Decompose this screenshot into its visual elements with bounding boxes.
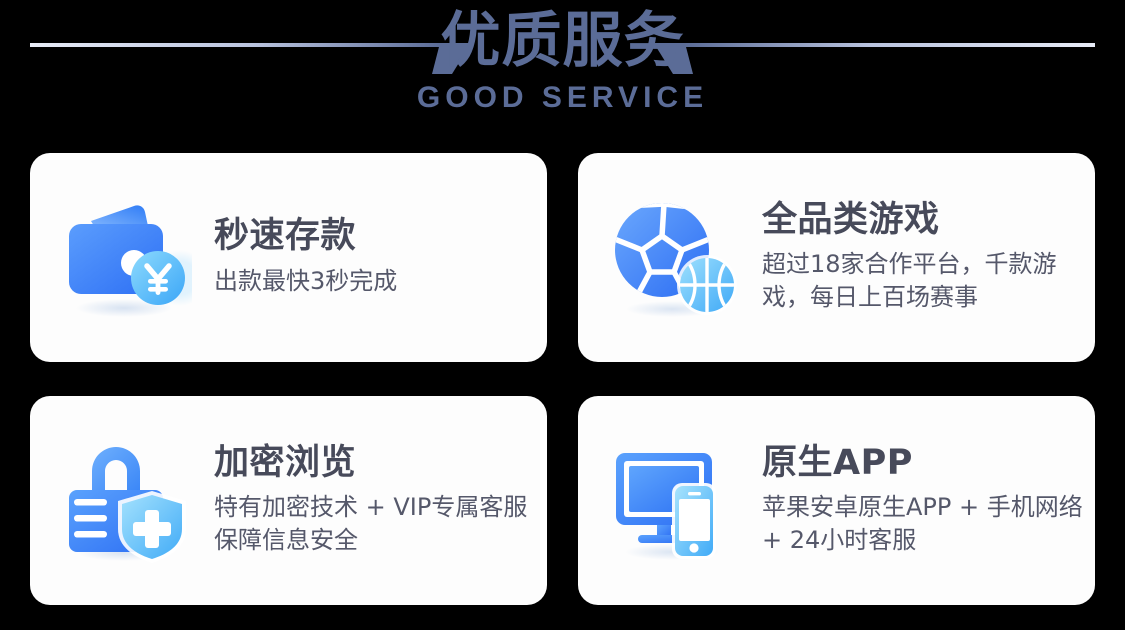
service-card-encrypted-browsing[interactable]: 加密浏览 特有加密技术 + VIP专属客服保障信息安全 [30,396,547,605]
service-card-all-games[interactable]: 全品类游戏 超过18家合作平台，千款游戏，每日上百场赛事 [578,153,1095,362]
card-description: 出款最快3秒完成 [214,265,397,298]
card-description: 超过18家合作平台，千款游戏，每日上百场赛事 [762,248,1094,314]
card-text-block: 原生APP 苹果安卓原生APP + 手机网络 + 24小时客服 [762,444,1094,557]
card-description: 特有加密技术 + VIP专属客服保障信息安全 [214,491,546,557]
card-title: 原生APP [762,444,1094,483]
service-card-grid: 秒速存款 出款最快3秒完成 [30,153,1095,610]
good-service-banner: 优质服务 GOOD SERVICE [0,0,1125,630]
card-text-block: 加密浏览 特有加密技术 + VIP专属客服保障信息安全 [214,444,546,557]
card-title: 全品类游戏 [762,201,1094,240]
service-card-instant-deposit[interactable]: 秒速存款 出款最快3秒完成 [30,153,547,362]
service-card-native-app[interactable]: 原生APP 苹果安卓原生APP + 手机网络 + 24小时客服 [578,396,1095,605]
lock-shield-icon [60,435,192,567]
card-title: 秒速存款 [214,217,397,256]
wallet-yen-icon [60,192,192,324]
page-title-chinese: 优质服务 [441,8,685,75]
page-title-english: GOOD SERVICE [417,81,708,115]
banner-header: 优质服务 GOOD SERVICE [0,0,1125,148]
soccer-basketball-icon [608,192,740,324]
card-title: 加密浏览 [214,444,546,483]
card-description: 苹果安卓原生APP + 手机网络 + 24小时客服 [762,491,1094,557]
monitor-phone-icon [608,435,740,567]
card-text-block: 秒速存款 出款最快3秒完成 [214,217,397,297]
card-text-block: 全品类游戏 超过18家合作平台，千款游戏，每日上百场赛事 [762,201,1094,314]
header-title-block: 优质服务 GOOD SERVICE [0,0,1125,115]
